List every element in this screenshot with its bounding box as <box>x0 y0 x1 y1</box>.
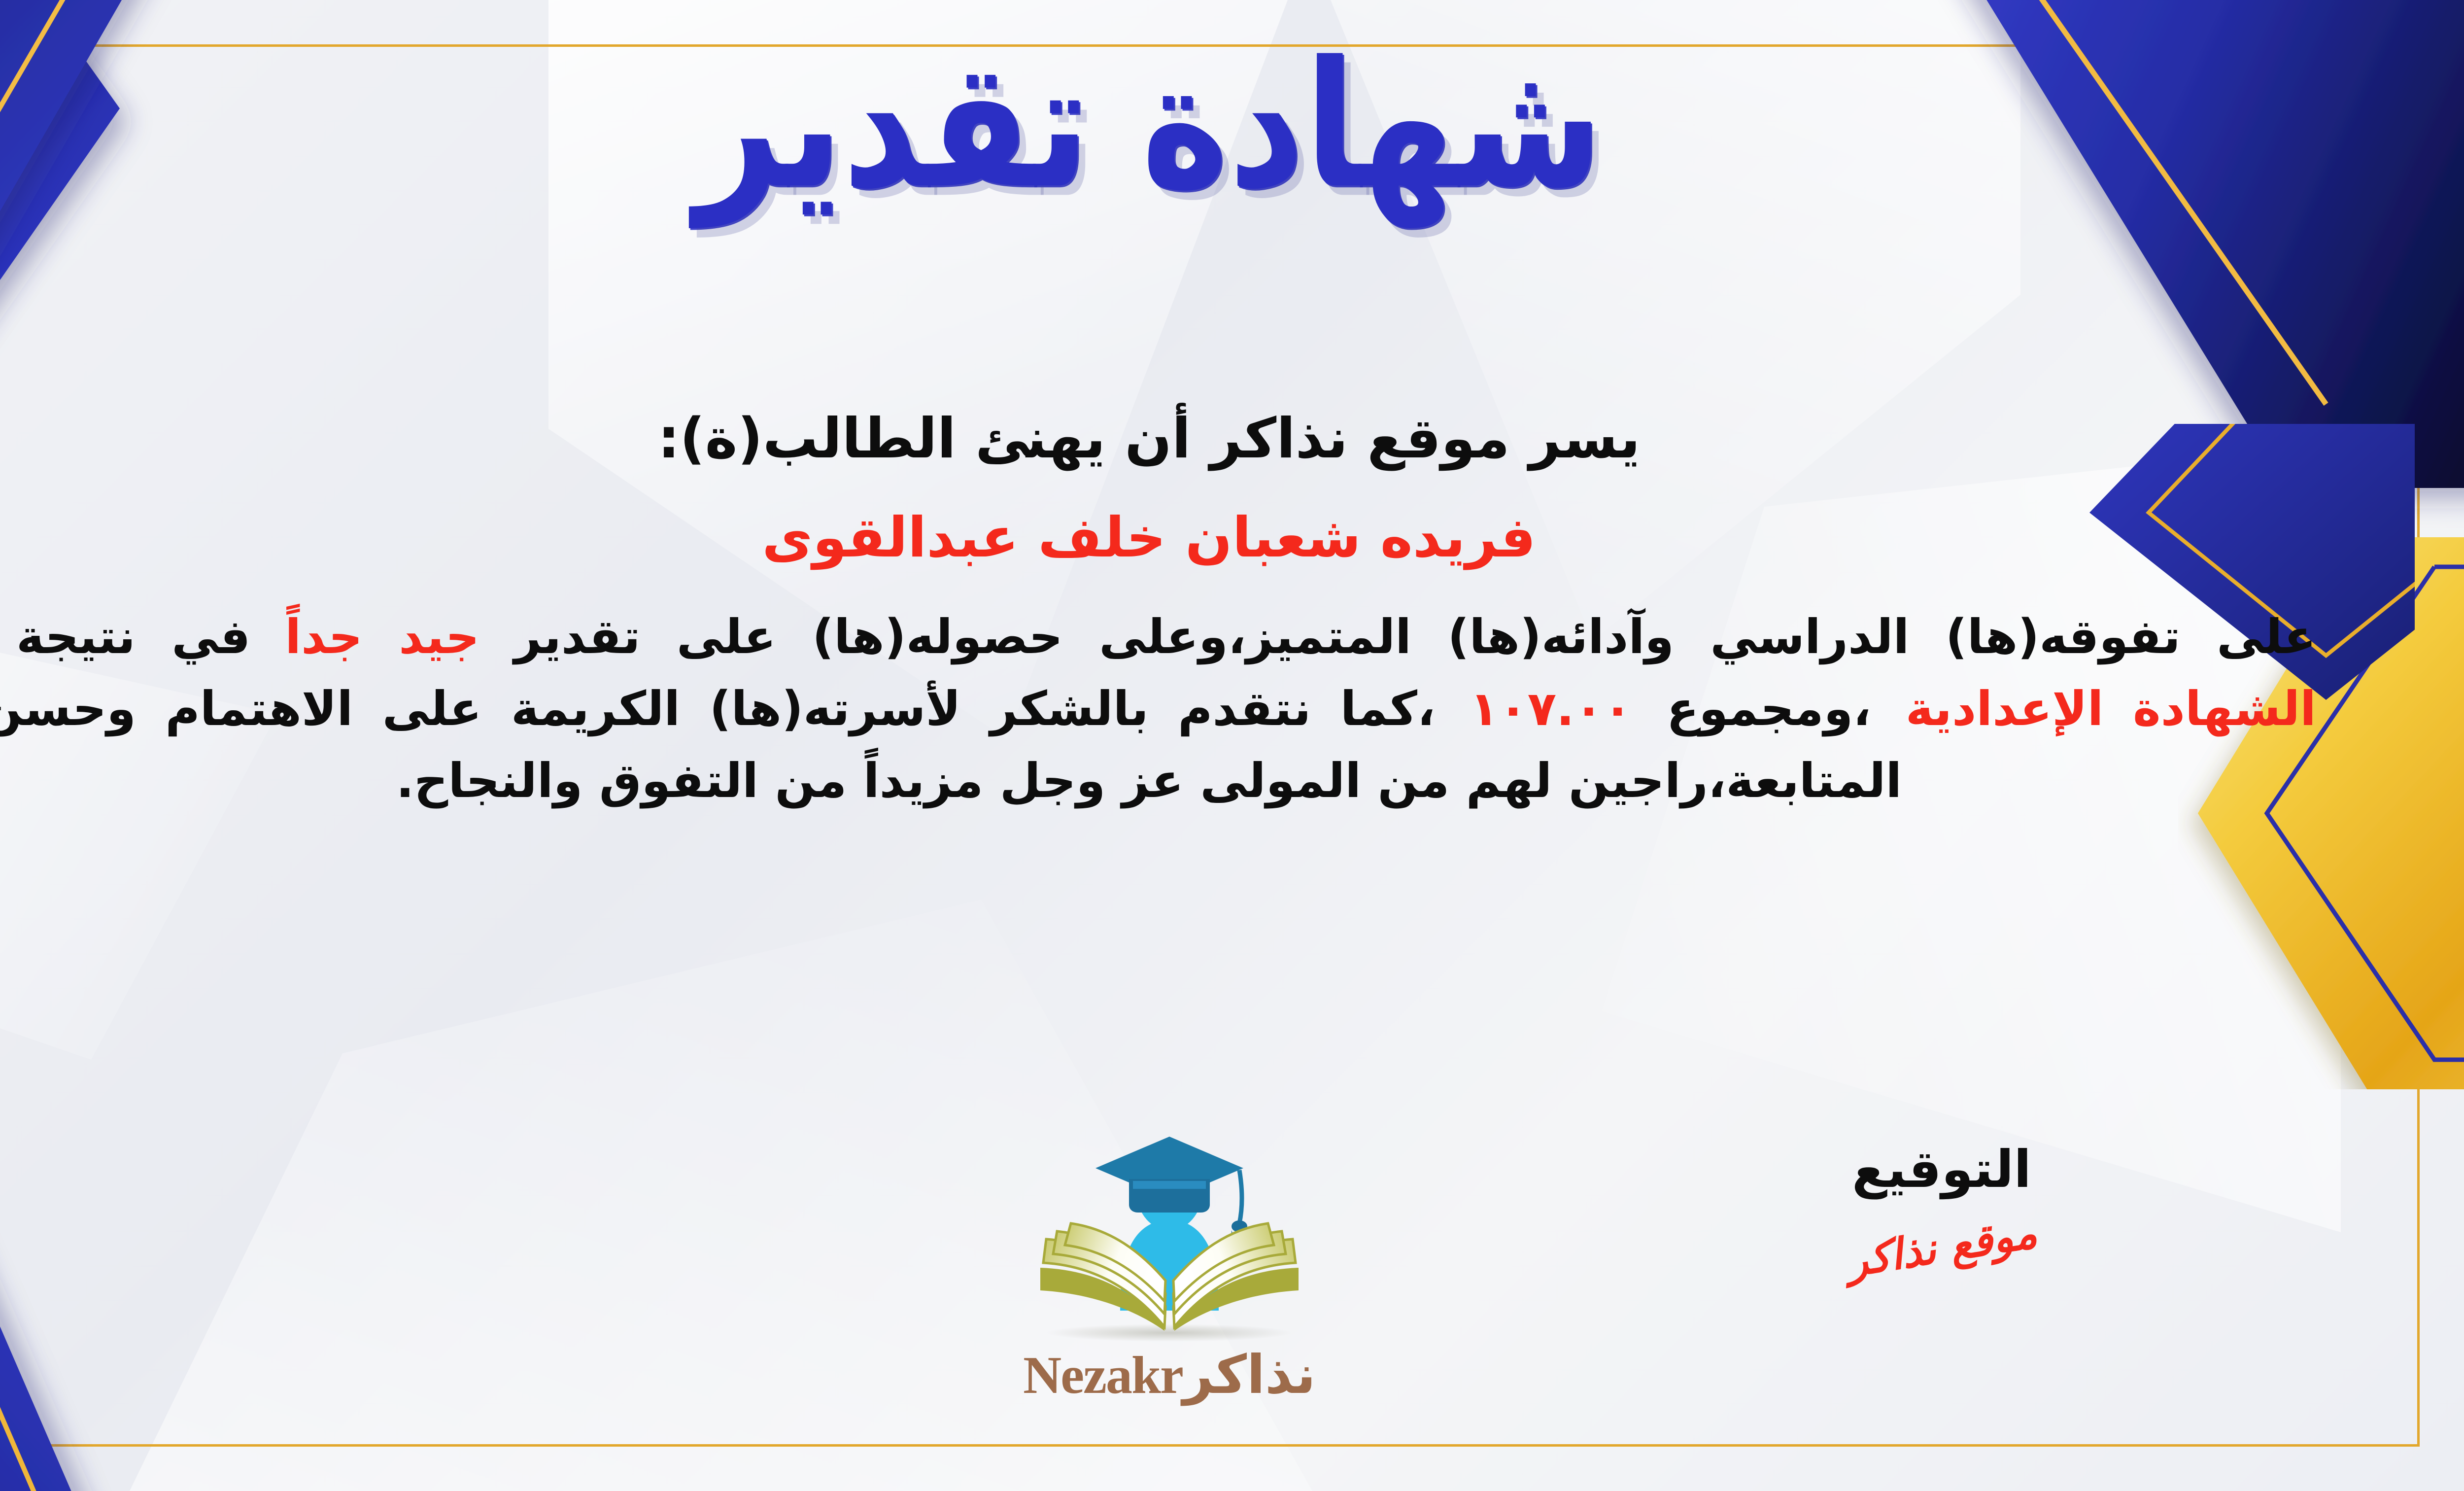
brand-wordmark-en: Nezakr <box>1023 1346 1183 1405</box>
book-shadow <box>1046 1324 1293 1342</box>
lead-line: يسر موقع نذاكر أن يهنئ الطالب(ة): <box>0 404 2361 473</box>
achievement-paragraph: على تفوقه(ها) الدراسي وآدائه(ها) المتميز… <box>0 601 2361 817</box>
graduate-book-icon <box>1012 1134 1327 1346</box>
signature-block: التوقيع موقع نذاكر <box>1804 1144 2080 1271</box>
signature-label: التوقيع <box>1804 1144 2080 1195</box>
tassel-cord <box>1239 1170 1242 1223</box>
grade-value: جيد جداً <box>285 609 479 664</box>
cap-band-highlight <box>1133 1181 1206 1189</box>
certificate-canvas: شهادة تقدير يسر موقع نذاكر أن يهنئ الطال… <box>0 0 2464 1491</box>
brand-logo: نذاكرNezakr <box>982 1134 1357 1439</box>
certificate-title: شهادة تقدير <box>0 38 2464 213</box>
student-name: فريده شعبان خلف عبدالقوى <box>0 505 2361 571</box>
brand-wordmark: نذاكرNezakr <box>1023 1349 1316 1402</box>
achievement-text-part3: ،ومجموع <box>1667 681 1871 736</box>
brand-wordmark-ar: نذاكر <box>1183 1344 1316 1406</box>
exam-name: الشهادة الإعدادية <box>1906 681 2316 736</box>
achievement-text-part2: في نتيجة <box>16 609 250 664</box>
certificate-body: يسر موقع نذاكر أن يهنئ الطالب(ة): فريده … <box>0 404 2361 817</box>
total-score: ١٠٧.٠٠ <box>1470 681 1632 736</box>
achievement-text-part1: على تفوقه(ها) الدراسي وآدائه(ها) المتميز… <box>514 609 2316 664</box>
